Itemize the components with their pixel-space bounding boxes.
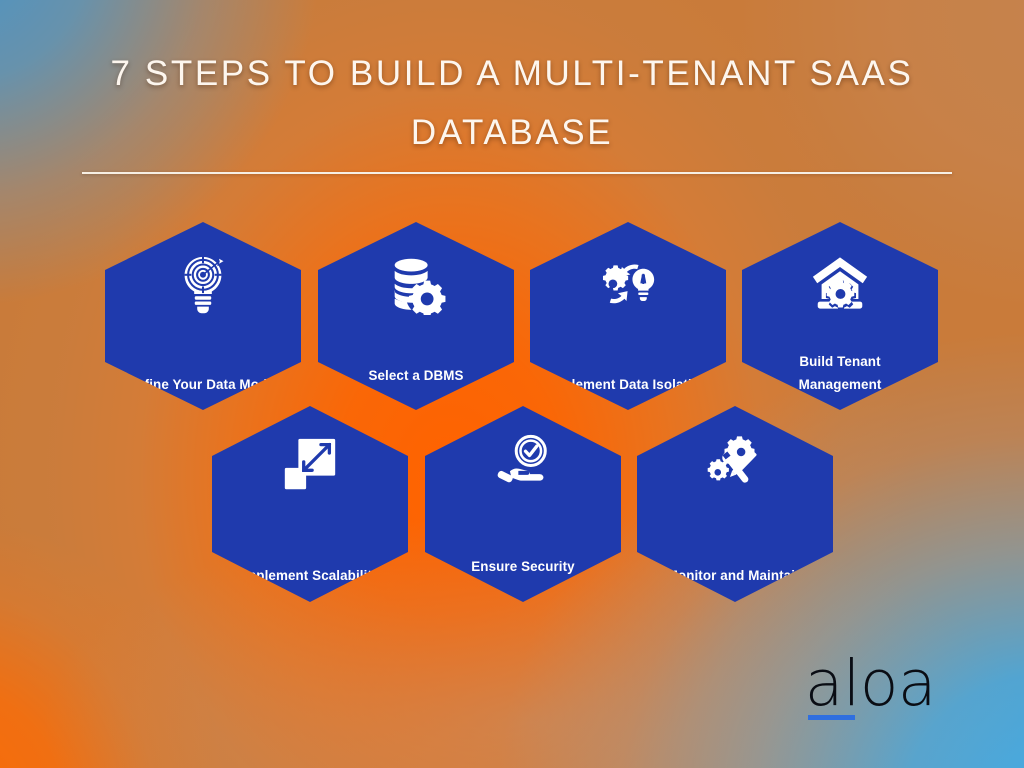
gears-wrench-icon [704,433,766,495]
database-gear-icon [385,253,447,315]
aloa-logo[interactable]: aloa [805,655,936,720]
lightbulb-target-icon [172,253,234,315]
gear-sync-lightbulb-icon [597,253,659,315]
title-divider [82,172,952,174]
hand-check-icon [492,433,554,495]
expand-arrows-icon [279,433,341,495]
logo-wordmark: aloa [805,655,936,713]
building-gear-icon [809,253,871,315]
header: 7 STEPS TO BUILD A MULTI-TENANT SAAS DAT… [0,44,1024,162]
page-title: 7 STEPS TO BUILD A MULTI-TENANT SAAS DAT… [0,44,1024,162]
infographic-canvas: 7 STEPS TO BUILD A MULTI-TENANT SAAS DAT… [0,0,1024,768]
